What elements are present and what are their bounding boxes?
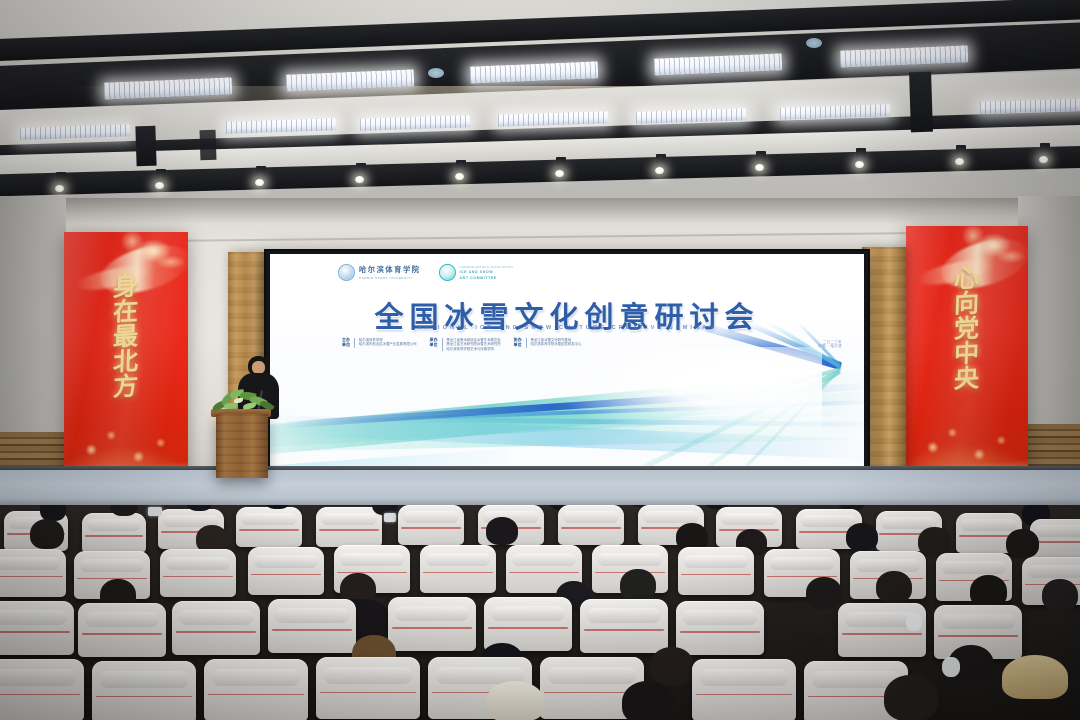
ceiling-downlight [755, 164, 764, 171]
audience-member [650, 647, 694, 685]
audience-seat [316, 657, 420, 719]
ceiling-downlight [55, 185, 64, 192]
audience-seat [204, 659, 308, 720]
ice-and-snow-art-committee-logo: CHINESE ARTISTS ASSOCIATION ICE AND SNOW… [439, 264, 513, 281]
audience-seat [388, 597, 476, 651]
screen-date-location: 二〇二三年 中国 · 哈尔滨 [818, 340, 842, 349]
org-value: 哈尔滨体育学院艺术与传媒学院 [446, 347, 500, 351]
audience-seat [236, 507, 302, 547]
wooden-pillar-right [862, 247, 906, 479]
smartphone [148, 507, 162, 516]
banner-char: 最 [113, 325, 139, 349]
audience-seat [0, 659, 84, 720]
audience-member [1042, 579, 1078, 611]
screen-logo-row: 哈尔滨体育学院 HARBIN SPORT UNIVERSITY CHINESE … [338, 264, 513, 281]
face-mask [942, 657, 960, 677]
audience-seat [678, 547, 754, 595]
audience-seat [172, 601, 260, 655]
audience-seat [0, 601, 74, 655]
right-red-banner: 心 向 党 中 央 [906, 226, 1028, 492]
logo-en-mid: ICE AND SNOW [460, 270, 513, 274]
audience-member [806, 577, 842, 609]
wall-top-shadow [0, 198, 1080, 224]
screen-organizers: 主办 单位 哈尔滨体育学院 哈尔滨市松北区冰雪产业发展有限公司 承办 单位 黑龙… [342, 338, 581, 351]
banner-char: 中 [954, 342, 980, 366]
audience-seat [398, 505, 464, 545]
audience-seat [248, 547, 324, 595]
ceiling-downlight [155, 182, 164, 189]
logo-en-bot: ART COMMITTEE [460, 276, 513, 280]
org-key-line: 单位 [430, 343, 438, 348]
audience-member [622, 681, 674, 720]
audience-seat [92, 661, 196, 720]
conference-hall-photo: 身 在 最 北 方 心 向 党 中 央 [0, 0, 1080, 720]
audience-seat [316, 507, 382, 547]
audience-member [486, 517, 518, 545]
audience-seat [0, 549, 66, 597]
organizer-block: 主办 单位 哈尔滨体育学院 哈尔滨市松北区冰雪产业发展有限公司 [342, 338, 417, 348]
org-key-line: 单位 [342, 343, 350, 348]
audience-hat [1002, 655, 1068, 699]
ceiling-downlight [455, 173, 464, 180]
audience-seat [82, 513, 146, 553]
audience-seat [558, 505, 624, 545]
university-emblem-icon [338, 264, 355, 281]
audience-seating [0, 505, 1080, 720]
podium-flower-arrangement [210, 388, 276, 414]
led-screen: 哈尔滨体育学院 HARBIN SPORT UNIVERSITY CHINESE … [270, 254, 864, 475]
wooden-podium [216, 414, 268, 478]
audience-seat [420, 545, 496, 593]
banner-char: 心 [954, 267, 980, 291]
logo-en-text: HARBIN SPORT UNIVERSITY [359, 276, 421, 280]
audience-seat [580, 599, 668, 653]
audience-hat [486, 681, 544, 720]
ceiling-downlight [955, 158, 964, 165]
audience-seat [160, 549, 236, 597]
audience-member [30, 519, 64, 549]
left-red-banner: 身 在 最 北 方 [64, 232, 188, 494]
banner-char: 身 [113, 275, 139, 299]
org-value: 哈尔滨体育学院冰雪创意研发中心 [531, 342, 582, 346]
audience-seat [268, 599, 356, 653]
ceiling-sensor-icon [806, 38, 822, 48]
ceiling-downlight [555, 170, 564, 177]
ceiling [0, 0, 1080, 205]
banner-char: 央 [954, 367, 980, 391]
audience-member [620, 569, 656, 601]
ceiling-downlight [355, 176, 364, 183]
harbin-sport-university-logo: 哈尔滨体育学院 HARBIN SPORT UNIVERSITY [338, 264, 421, 281]
ceiling-downlight [855, 161, 864, 168]
audience-seat [692, 659, 796, 720]
banner-char: 方 [113, 375, 139, 399]
audience-seat [676, 601, 764, 655]
face-mask [906, 613, 922, 631]
banner-char: 北 [113, 350, 139, 374]
audience-member [876, 571, 912, 603]
audience-seat [78, 603, 166, 657]
audience-member [884, 675, 938, 720]
ceiling-downlight [1039, 156, 1048, 163]
audience-member [846, 523, 878, 551]
screen-location: 中国 · 哈尔滨 [818, 344, 842, 348]
ceiling-downlight [655, 167, 664, 174]
audience-member [970, 575, 1007, 608]
snowflake-emblem-icon [439, 264, 456, 281]
screen-light-burst [549, 347, 822, 449]
organizer-block: 协办 单位 黑龙江省冰雪文化研究基地 哈尔滨体育学院冰雪创意研发中心 [514, 338, 582, 348]
org-key-line: 单位 [514, 343, 522, 348]
logo-en-top: CHINESE ARTISTS ASSOCIATION [460, 266, 513, 269]
ceiling-sensor-icon [428, 68, 444, 78]
banner-char: 在 [113, 300, 139, 324]
smartphone [384, 513, 396, 522]
organizer-block: 承办 单位 黑龙江省美术家协会冰雪艺术委员会 黑龙江省艺术研究院冰雪艺术研究所 … [430, 338, 501, 351]
banner-char: 党 [954, 317, 980, 341]
ceiling-downlight [255, 179, 264, 186]
logo-cn-text: 哈尔滨体育学院 [359, 265, 421, 275]
org-value: 哈尔滨市松北区冰雪产业发展有限公司 [359, 342, 417, 346]
banner-char: 向 [954, 292, 980, 316]
screen-subtitle: NATIONAL ICE AND SNOW CULTURE CREATIVE S… [270, 325, 864, 331]
